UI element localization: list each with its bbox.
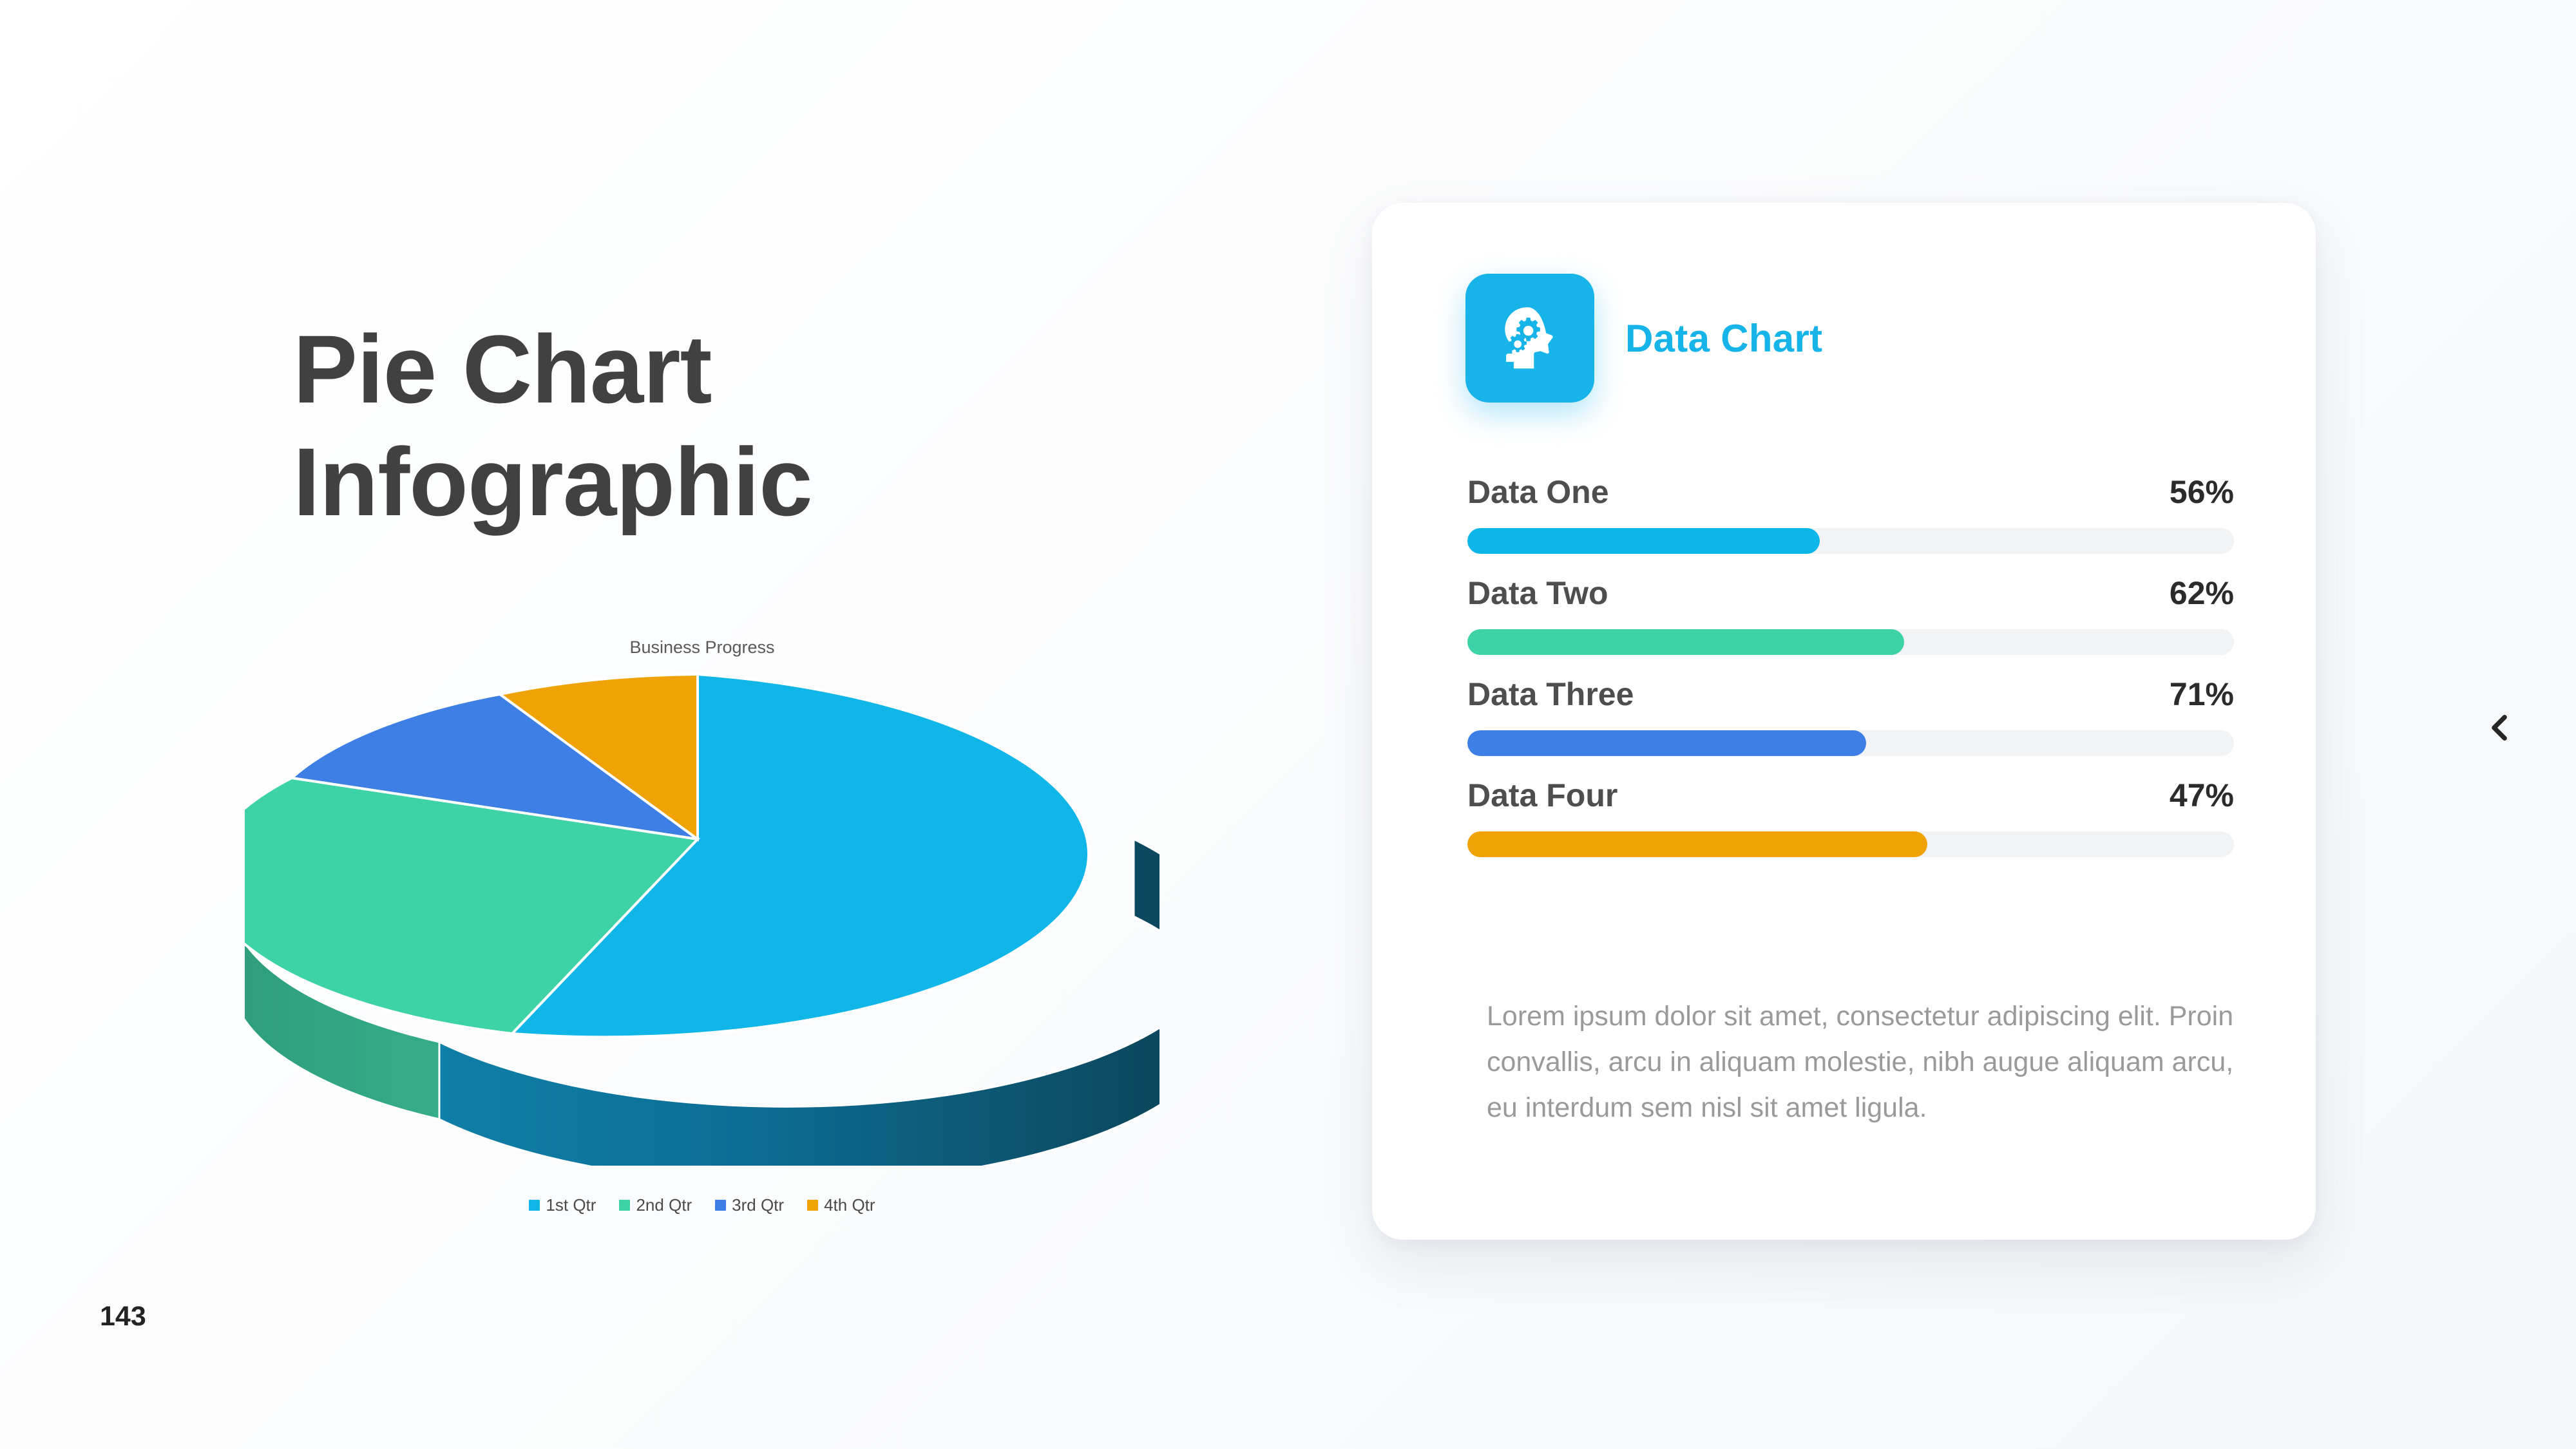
progress-bar-row: Data One 56%: [1467, 473, 2234, 554]
legend-label: 4th Qtr: [824, 1195, 875, 1215]
progress-bar-label: Data One: [1467, 473, 1609, 511]
data-chart-card: Data Chart Data One 56% Data Two 62%: [1372, 203, 2316, 1240]
legend-label: 1st Qtr: [546, 1195, 596, 1215]
progress-bar-fill: [1467, 831, 1927, 857]
legend-swatch-icon: [529, 1200, 540, 1211]
pie-top-face: [245, 674, 1089, 1037]
pie-chart-area: Business Progress: [245, 628, 1159, 1227]
progress-bar-track: [1467, 831, 2234, 857]
progress-bar-list: Data One 56% Data Two 62% Data Three: [1467, 473, 2234, 857]
legend-label: 2nd Qtr: [636, 1195, 692, 1215]
pie-svg: [245, 657, 1159, 1166]
slide-canvas: Pie Chart Infographic Business Progress: [0, 0, 2576, 1449]
chevron-left-icon: [2481, 710, 2517, 746]
page-title-line-1: Pie Chart: [293, 313, 1098, 426]
head-gears-glyph: [1492, 300, 1568, 376]
legend-item: 3rd Qtr: [715, 1195, 784, 1215]
progress-bar-fill: [1467, 528, 1820, 554]
head-gears-icon: [1465, 274, 1594, 402]
progress-bar-label: Data Three: [1467, 676, 1634, 713]
progress-bar-header: Data One 56%: [1467, 473, 2234, 511]
progress-bar-header: Data Four 47%: [1467, 777, 2234, 814]
page-title-line-2: Infographic: [293, 426, 1098, 539]
progress-bar-header: Data Two 62%: [1467, 574, 2234, 612]
progress-bar-row: Data Two 62%: [1467, 574, 2234, 655]
pie-chart-graphic: [245, 657, 1159, 1166]
progress-bar-label: Data Two: [1467, 574, 1608, 612]
progress-bar-row: Data Three 71%: [1467, 676, 2234, 756]
progress-bar-value: 71%: [2170, 676, 2234, 713]
progress-bar-value: 56%: [2170, 473, 2234, 511]
legend-swatch-icon: [619, 1200, 630, 1211]
page-title: Pie Chart Infographic: [293, 313, 1098, 539]
card-header: Data Chart: [1465, 274, 1822, 402]
legend-item: 1st Qtr: [529, 1195, 596, 1215]
progress-bar-fill: [1467, 730, 1866, 756]
progress-bar-row: Data Four 47%: [1467, 777, 2234, 857]
progress-bar-track: [1467, 629, 2234, 655]
page-number: 143: [100, 1301, 146, 1332]
left-column: Pie Chart Infographic Business Progress: [0, 0, 1198, 1449]
progress-bar-track: [1467, 730, 2234, 756]
progress-bar-value: 62%: [2170, 574, 2234, 612]
legend-item: 4th Qtr: [807, 1195, 875, 1215]
chart-legend: 1st Qtr 2nd Qtr 3rd Qtr 4th Qtr: [245, 1195, 1159, 1215]
progress-bar-fill: [1467, 629, 1904, 655]
progress-bar-header: Data Three 71%: [1467, 676, 2234, 713]
legend-label: 3rd Qtr: [732, 1195, 784, 1215]
progress-bar-track: [1467, 528, 2234, 554]
progress-bar-label: Data Four: [1467, 777, 1617, 814]
previous-slide-button[interactable]: [2474, 702, 2525, 753]
chart-title: Business Progress: [245, 638, 1159, 658]
legend-item: 2nd Qtr: [619, 1195, 692, 1215]
legend-swatch-icon: [715, 1200, 726, 1211]
card-title: Data Chart: [1625, 316, 1822, 361]
legend-swatch-icon: [807, 1200, 818, 1211]
card-paragraph: Lorem ipsum dolor sit amet, consectetur …: [1487, 994, 2234, 1131]
progress-bar-value: 47%: [2170, 777, 2234, 814]
